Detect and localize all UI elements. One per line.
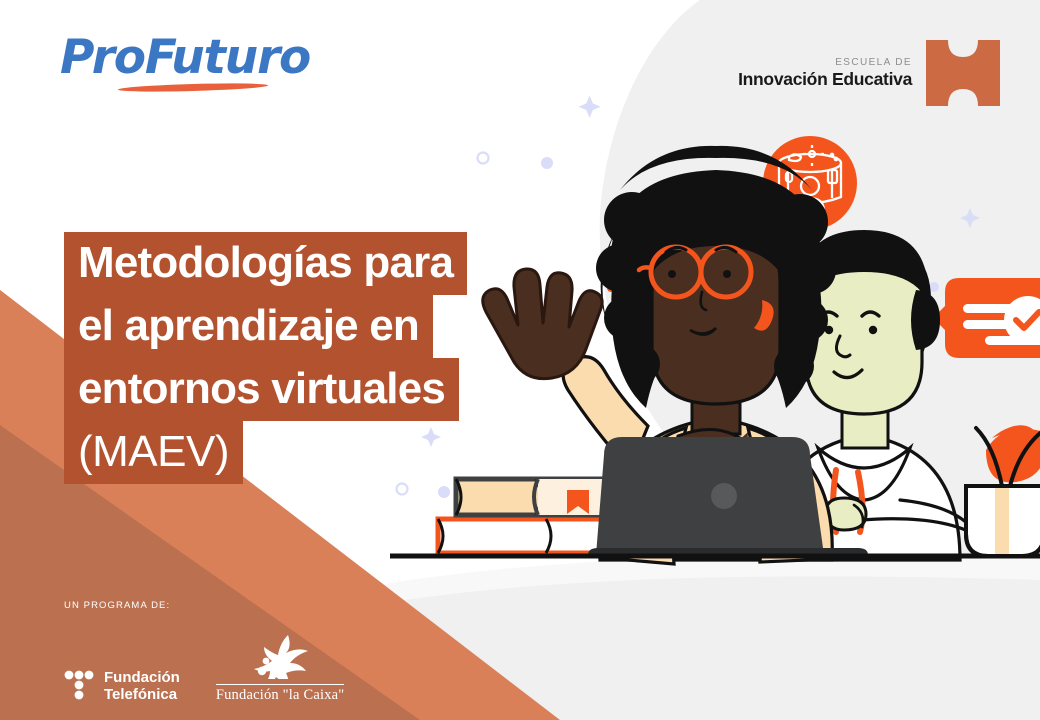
plant-pot (966, 425, 1040, 556)
escuela-kicker: ESCUELA DE (738, 58, 912, 69)
laptop-logo-icon (711, 483, 737, 509)
telefonica-dots-icon (64, 670, 94, 704)
title-line-4: (MAEV) (64, 421, 243, 484)
title-line-2: el aprendizaje en (64, 295, 433, 358)
telefonica-line-1: Fundación (104, 670, 180, 687)
escuela-text-group: ESCUELA DE Innovación Educativa (738, 58, 912, 89)
telefonica-line-2: Telefónica (104, 687, 180, 704)
lacaixa-wordmark: Fundación "la Caixa" (216, 684, 345, 704)
checklist-bubble (933, 278, 1040, 358)
sparkle-icon (579, 96, 601, 118)
sponsors-block: UN PROGRAMA DE: Fundación Telefónica (64, 600, 344, 704)
dot-icon (438, 486, 450, 498)
fundacion-lacaixa-logo: Fundación "la Caixa" (216, 633, 345, 704)
sponsor-logo-row: Fundación Telefónica Fundación "la Caixa… (64, 633, 344, 704)
telefonica-wordmark: Fundación Telefónica (104, 670, 180, 704)
sponsors-kicker: UN PROGRAMA DE: (64, 600, 344, 611)
title-line-3: entornos virtuales (64, 358, 459, 421)
sparkle-icon (960, 208, 980, 228)
cover-page: ProFuturo ESCUELA DE Innovación Educativ… (0, 0, 1040, 720)
title-line-1: Metodologías para (64, 232, 467, 295)
profuturo-wordmark: ProFuturo (60, 34, 290, 81)
x-mark-icon (926, 40, 1000, 106)
profuturo-logo: ProFuturo (60, 34, 290, 102)
escuela-name: Innovación Educativa (738, 70, 912, 88)
fundacion-telefonica-logo: Fundación Telefónica (64, 670, 180, 704)
ring-icon (397, 484, 408, 495)
escuela-innovacion-logo: ESCUELA DE Innovación Educativa (738, 40, 1000, 106)
dot-icon (541, 157, 553, 169)
lacaixa-star-icon (248, 633, 312, 679)
ring-icon (478, 153, 489, 164)
page-title: Metodologías para el aprendizaje en ento… (64, 232, 467, 484)
